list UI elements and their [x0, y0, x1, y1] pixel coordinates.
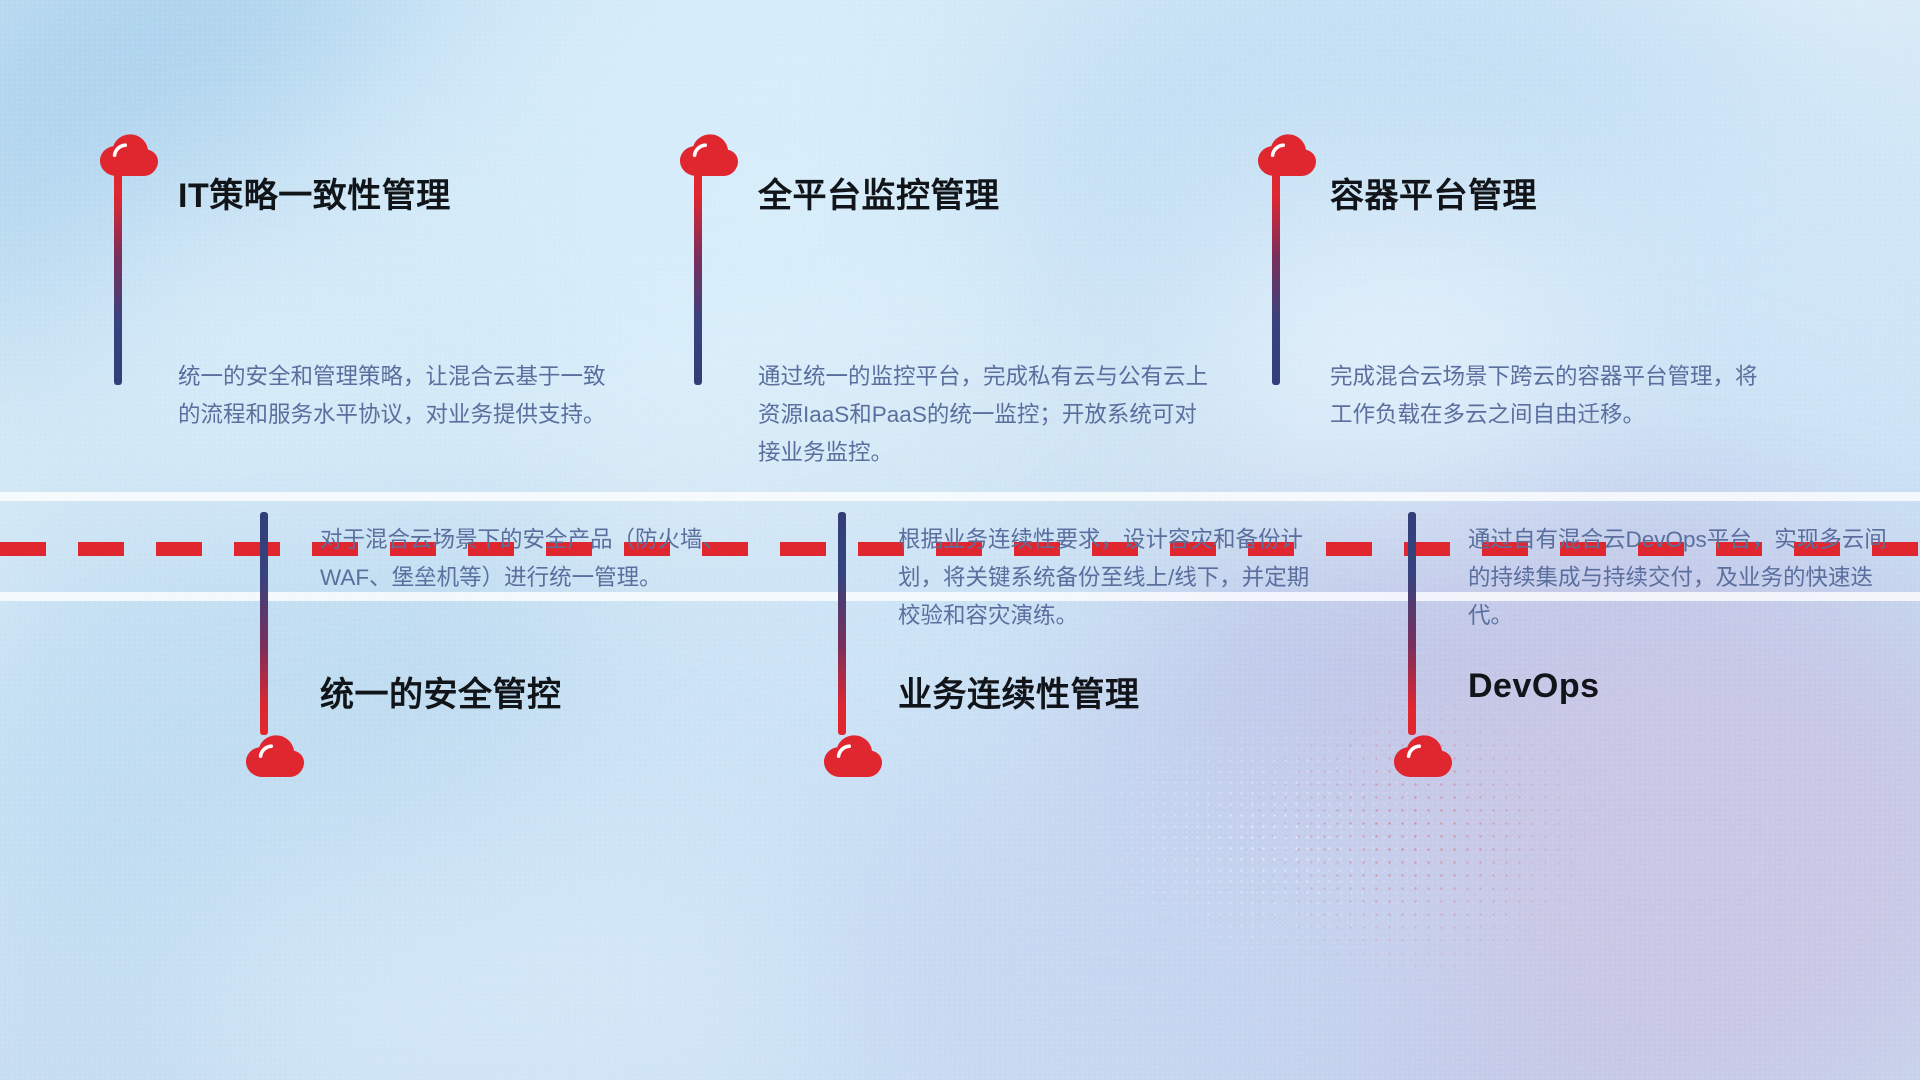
cloud-icon — [1390, 731, 1454, 779]
milestone-title: 统一的安全管控 — [320, 667, 562, 716]
cloud-icon — [96, 130, 160, 178]
milestone-description: 通过统一的监控平台，完成私有云与公有云上资源IaaS和PaaS的统一监控；开放系… — [758, 358, 1208, 472]
milestone-title: 全平台监控管理 — [758, 168, 1000, 217]
milestone-description: 统一的安全和管理策略，让混合云基于一致的流程和服务水平协议，对业务提供支持。 — [178, 358, 608, 434]
milestone-description: 通过自有混合云DevOps平台，实现多云间的持续集成与持续交付，及业务的快速迭代… — [1468, 521, 1898, 635]
milestone-title: DevOps — [1468, 667, 1600, 706]
timeline-stem — [114, 170, 122, 385]
cloud-icon — [676, 130, 740, 178]
milestone-title: IT策略一致性管理 — [178, 168, 451, 217]
milestone-description: 对于混合云场景下的安全产品（防火墙、WAF、堡垒机等）进行统一管理。 — [320, 521, 750, 597]
milestone-title: 容器平台管理 — [1330, 168, 1537, 217]
divider-rail-top — [0, 492, 1920, 501]
cloud-icon — [242, 731, 306, 779]
cloud-icon — [1254, 130, 1318, 178]
timeline-stem — [838, 512, 846, 735]
timeline-stem — [260, 512, 268, 735]
bottom-row: 对于混合云场景下的安全产品（防火墙、WAF、堡垒机等）进行统一管理。统一的安全管… — [0, 601, 1920, 1080]
timeline-stem — [694, 170, 702, 385]
milestone-title: 业务连续性管理 — [898, 667, 1140, 716]
cloud-icon — [820, 731, 884, 779]
timeline-stem — [1272, 170, 1280, 385]
top-row: IT策略一致性管理统一的安全和管理策略，让混合云基于一致的流程和服务水平协议，对… — [0, 0, 1920, 492]
milestone-description: 完成混合云场景下跨云的容器平台管理，将工作负载在多云之间自由迁移。 — [1330, 358, 1760, 434]
milestone-description: 根据业务连续性要求，设计容灾和备份计划，将关键系统备份至线上/线下，并定期校验和… — [898, 521, 1328, 635]
timeline-stem — [1408, 512, 1416, 735]
